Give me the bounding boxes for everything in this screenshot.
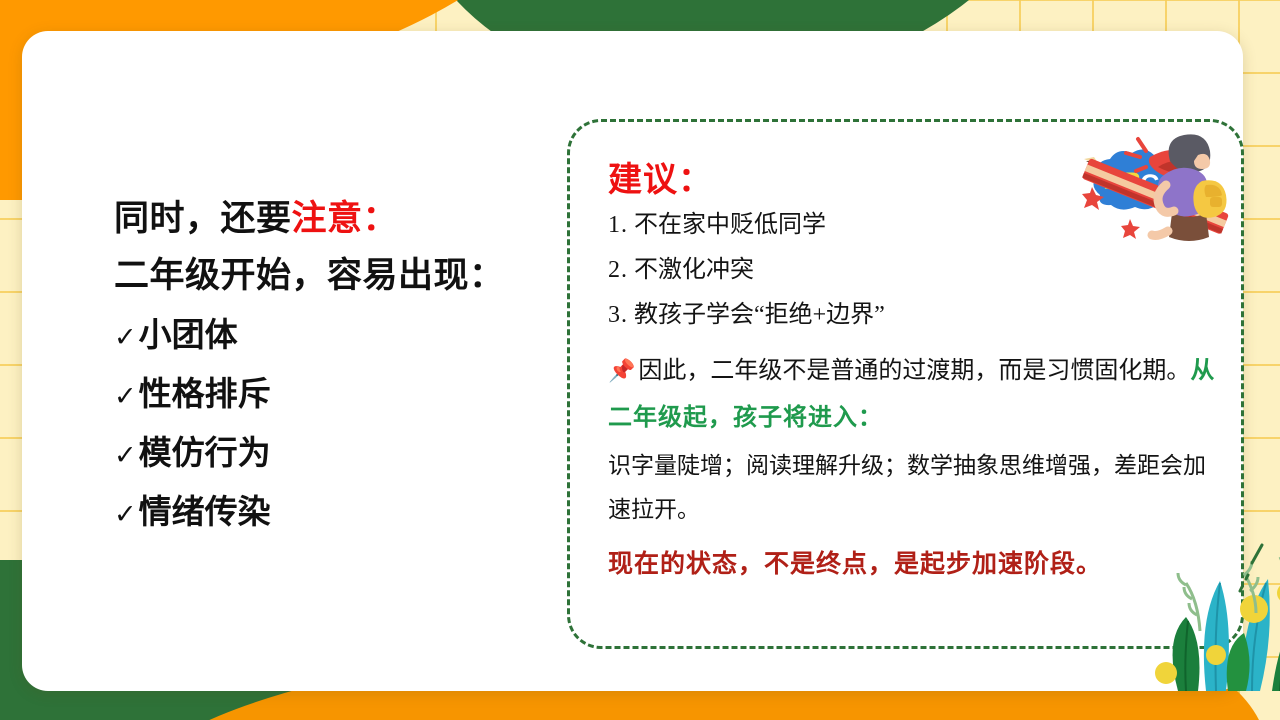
list-item: ✓ 性格排斥 [114,377,544,410]
slide-content-card: 同时，还要注意： 二年级开始，容易出现： ✓ 小团体 ✓ 性格排斥 ✓ 模仿行为… [22,31,1243,691]
list-item-label: 性格排斥 [139,377,271,410]
advice-item-text: 不在家中贬低同学 [634,212,826,238]
closing-line: 现在的状态，不是终点，是起步加速阶段。 [608,545,1220,585]
check-icon: ✓ [114,442,137,469]
advice-panel: 建议： 1. 不在家中贬低同学 2. 不激化冲突 3. 教孩子学会“拒绝+边界”… [567,119,1244,649]
pushpin-icon: 📌 [608,358,635,383]
list-item-label: 小团体 [139,318,238,351]
lead-line-1: 同时，还要注意： [114,191,544,248]
detail-paragraph: 识字量陡增；阅读理解升级；数学抽象思维增强，差距会加速拉开。 [608,444,1220,534]
advice-panel-content: 建议： 1. 不在家中贬低同学 2. 不激化冲突 3. 教孩子学会“拒绝+边界”… [608,152,1220,585]
list-item: ✓ 小团体 [114,318,544,351]
advice-item-text: 教孩子学会“拒绝+边界” [634,302,885,328]
advice-panel-title: 建议： [608,152,1220,201]
lead-line-1-red: 注意： [292,199,399,238]
advice-item: 1. 不在家中贬低同学 [608,213,1220,237]
note-paragraph-black: 因此，二年级不是普通的过渡期，而是习惯固化期。 [638,358,1190,384]
list-item: ✓ 模仿行为 [114,436,544,469]
lead-line-1-black: 同时，还要 [114,199,292,238]
list-item: ✓ 情绪传染 [114,495,544,528]
left-text-column: 同时，还要注意： 二年级开始，容易出现： ✓ 小团体 ✓ 性格排斥 ✓ 模仿行为… [114,191,544,554]
note-paragraph: 📌因此，二年级不是普通的过渡期，而是习惯固化期。从二年级起，孩子将进入： [608,348,1220,442]
checklist: ✓ 小团体 ✓ 性格排斥 ✓ 模仿行为 ✓ 情绪传染 [114,318,544,528]
advice-item: 2. 不激化冲突 [608,258,1220,282]
check-icon: ✓ [114,383,137,410]
check-icon: ✓ [114,324,137,351]
advice-item: 3. 教孩子学会“拒绝+边界” [608,303,1220,327]
list-item-label: 模仿行为 [139,436,271,469]
advice-item-number: 1. [608,212,628,238]
list-item-label: 情绪传染 [139,495,271,528]
advice-item-number: 2. [608,257,628,283]
check-icon: ✓ [114,501,137,528]
advice-item-number: 3. [608,302,628,328]
advice-item-text: 不激化冲突 [634,257,754,283]
lead-line-2: 二年级开始，容易出现： [114,248,544,305]
